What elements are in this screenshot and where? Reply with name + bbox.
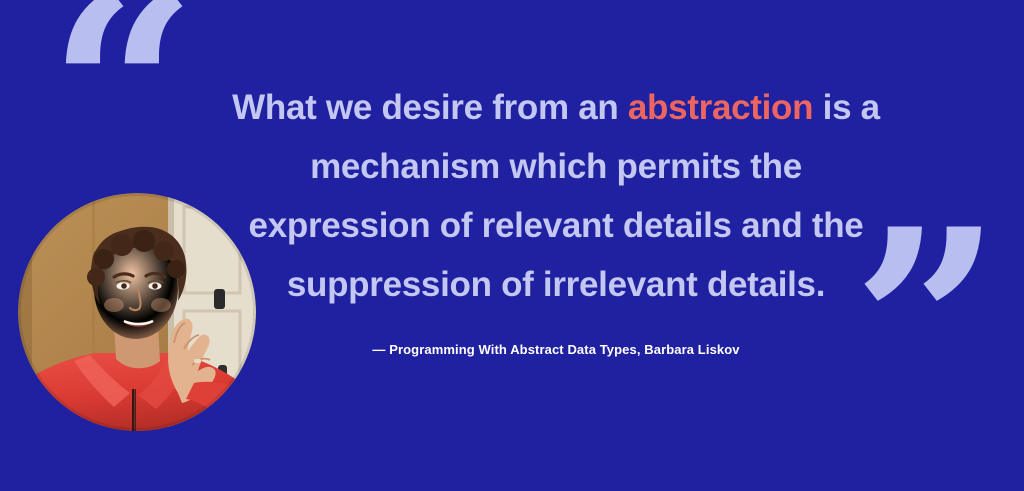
- open-quote-icon: “: [48, 0, 196, 222]
- quote-line-1-after: is a: [813, 88, 880, 127]
- quote-line-1: What we desire from an abstraction is a: [176, 78, 936, 137]
- quote-line-4: suppression of irrelevant details.: [176, 255, 936, 314]
- quote-line-1-before: What we desire from an: [232, 88, 628, 127]
- quote-card: “ ”: [0, 0, 1024, 491]
- portrait-avatar: [18, 193, 256, 431]
- quote-line-3: expression of relevant details and the: [176, 196, 936, 255]
- quote-attribution: — Programming With Abstract Data Types, …: [176, 342, 936, 357]
- portrait-image: [18, 193, 256, 431]
- quote-line-2: mechanism which permits the: [176, 137, 936, 196]
- quote-highlight-abstraction: abstraction: [628, 88, 813, 127]
- quote-text-block: What we desire from an abstraction is a …: [176, 78, 936, 357]
